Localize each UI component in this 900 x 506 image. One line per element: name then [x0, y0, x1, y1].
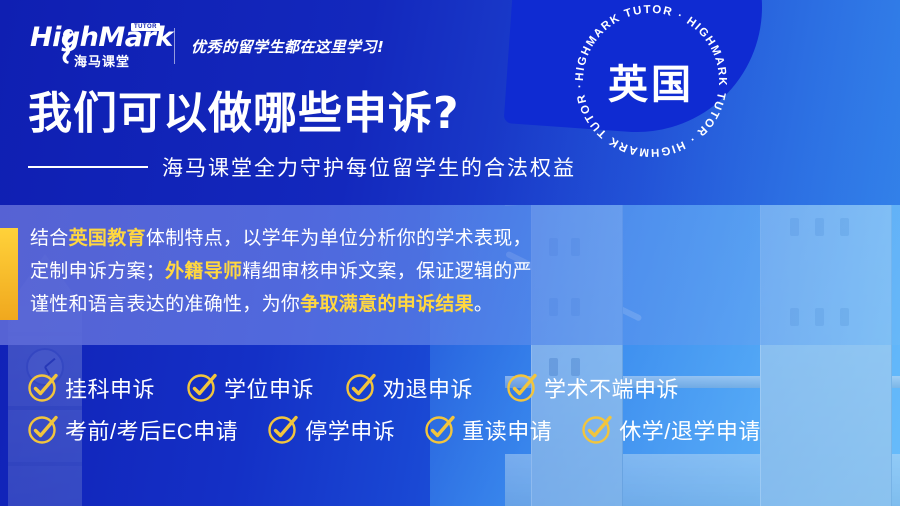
header-divider — [174, 28, 175, 64]
desc-l2-b: 精细审核申诉文案，保证逻辑的严 — [242, 261, 532, 282]
page-title: 我们可以做哪些申诉? — [28, 88, 460, 140]
service-tag[interactable]: 休学/退学申请 — [584, 414, 761, 446]
logo-tutor-tag: TUTOR — [131, 23, 160, 31]
service-tag-label: 考前/考后EC申请 — [65, 414, 238, 446]
service-tag-label: 学术不端申诉 — [544, 372, 679, 404]
service-tag[interactable]: 挂科申诉 — [30, 372, 155, 404]
service-tag-label: 休学/退学申请 — [619, 414, 761, 446]
check-circle-icon — [348, 375, 374, 401]
badge-country-label: 英国 — [556, 0, 746, 176]
service-tag-label: 重读申请 — [462, 414, 552, 446]
description-text: 结合英国教育体制特点，以学年为单位分析你的学术表现， 定制申诉方案；外籍导师精细… — [30, 222, 590, 321]
logo[interactable]: HighMark TUTOR 海马课堂 — [30, 24, 158, 68]
desc-l3-a: 谨性和语言表达的准确性，为你 — [30, 294, 300, 315]
check-circle-icon — [270, 417, 296, 443]
check-circle-icon — [189, 375, 215, 401]
description-line-3: 谨性和语言表达的准确性，为你争取满意的申诉结果。 — [30, 288, 590, 321]
subtitle-text: 海马课堂全力守护每位留学生的合法权益 — [162, 152, 576, 182]
desc-l1-b: 体制特点，以学年为单位分析你的学术表现， — [146, 228, 532, 249]
service-tag-row-2: 考前/考后EC申请停学申诉重读申请休学/退学申请 — [30, 414, 761, 446]
check-circle-icon — [584, 417, 610, 443]
service-tag[interactable]: 学位申诉 — [189, 372, 314, 404]
logo-chinese-name: 海马课堂 — [74, 51, 130, 70]
check-circle-icon — [509, 375, 535, 401]
page-subtitle: 海马课堂全力守护每位留学生的合法权益 — [28, 152, 576, 182]
desc-l3-highlight: 争取满意的申诉结果 — [300, 294, 474, 315]
service-tag-label: 停学申诉 — [305, 414, 395, 446]
service-tag-label: 劝退申诉 — [383, 372, 473, 404]
subtitle-rule — [28, 166, 148, 168]
service-tag-label: 学位申诉 — [224, 372, 314, 404]
service-tag-row-1: 挂科申诉学位申诉劝退申诉学术不端申诉 — [30, 372, 761, 404]
description-accent-bar — [0, 228, 18, 320]
check-circle-icon — [427, 417, 453, 443]
brand-slogan: 优秀的留学生都在这里学习! — [191, 36, 384, 57]
description-line-2: 定制申诉方案；外籍导师精细审核申诉文案，保证逻辑的严 — [30, 255, 590, 288]
country-badge: HIGHMARK TUTOR · HIGHMARK TUTOR · HIGHMA… — [556, 0, 746, 176]
desc-l3-b: 。 — [474, 294, 493, 315]
promo-banner: HighMark TUTOR 海马课堂 优秀的留学生都在这里学习! 我们可以做哪… — [0, 0, 900, 506]
brand-header: HighMark TUTOR 海马课堂 优秀的留学生都在这里学习! — [30, 24, 384, 68]
description-line-1: 结合英国教育体制特点，以学年为单位分析你的学术表现， — [30, 222, 590, 255]
service-tag[interactable]: 考前/考后EC申请 — [30, 414, 238, 446]
service-tag[interactable]: 劝退申诉 — [348, 372, 473, 404]
desc-l1-a: 结合 — [30, 228, 69, 249]
check-circle-icon — [30, 417, 56, 443]
desc-l2-highlight: 外籍导师 — [165, 261, 242, 282]
service-tag[interactable]: 停学申诉 — [270, 414, 395, 446]
service-tag-label: 挂科申诉 — [65, 372, 155, 404]
check-circle-icon — [30, 375, 56, 401]
desc-l1-highlight: 英国教育 — [69, 228, 146, 249]
big-ben-band — [8, 462, 82, 466]
service-tag-list: 挂科申诉学位申诉劝退申诉学术不端申诉 考前/考后EC申请停学申诉重读申请休学/退… — [30, 372, 761, 446]
service-tag[interactable]: 学术不端申诉 — [509, 372, 679, 404]
service-tag[interactable]: 重读申请 — [427, 414, 552, 446]
desc-l2-a: 定制申诉方案； — [30, 261, 165, 282]
